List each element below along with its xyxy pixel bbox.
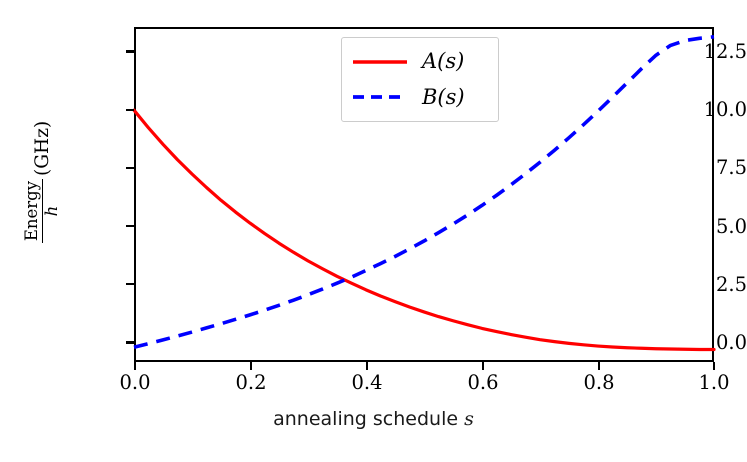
legend-box: A(s) B(s)	[341, 37, 499, 122]
x-tick-mark	[366, 362, 368, 370]
x-tick-mark	[598, 362, 600, 370]
x-axis-label: annealing schedule s	[0, 408, 747, 430]
x-axis-label-text: annealing schedule	[273, 408, 458, 430]
x-tick-label-0: 0.0	[95, 373, 175, 393]
y-tick-label-2: 5.0	[629, 217, 747, 237]
y-tick-mark	[126, 341, 134, 343]
x-axis-label-symbol: s	[464, 408, 474, 430]
y-tick-label-0: 0.0	[629, 333, 747, 353]
legend-item-a: A(s)	[352, 46, 488, 78]
y-tick-mark	[126, 225, 134, 227]
x-tick-label-1: 0.2	[211, 373, 291, 393]
legend-line-a-icon	[352, 55, 408, 69]
y-tick-label-5: 12.5	[629, 42, 747, 62]
legend-line-b-icon	[352, 90, 408, 104]
legend-label-a: A(s)	[422, 51, 464, 72]
y-tick-mark	[126, 50, 134, 52]
y-axis-label-unit: (GHz)	[32, 121, 53, 176]
y-tick-label-1: 2.5	[629, 275, 747, 295]
y-tick-mark	[126, 167, 134, 169]
x-tick-mark	[482, 362, 484, 370]
x-tick-label-4: 0.8	[559, 373, 639, 393]
y-axis-label-denominator: h	[43, 206, 61, 217]
x-tick-label-5: 1.0	[674, 373, 747, 393]
x-tick-mark	[134, 362, 136, 370]
x-tick-label-3: 0.6	[443, 373, 523, 393]
y-axis-label-fraction: Energy h	[24, 179, 61, 243]
legend-item-b: B(s)	[352, 81, 488, 113]
y-axis-label-numerator: Energy	[24, 179, 43, 243]
x-tick-mark	[250, 362, 252, 370]
legend-label-b: B(s)	[422, 87, 465, 108]
figure-canvas: 0.0 2.5 5.0 7.5 10.0 12.5 0.0 0.2 0.4 0.…	[0, 0, 747, 462]
y-tick-mark	[126, 283, 134, 285]
y-tick-mark	[126, 109, 134, 111]
x-tick-label-2: 0.4	[327, 373, 407, 393]
x-tick-mark	[713, 362, 715, 370]
y-tick-label-4: 10.0	[629, 100, 747, 120]
series-line-a	[134, 110, 714, 349]
y-tick-label-3: 7.5	[629, 158, 747, 178]
y-axis-label: Energy h (GHz)	[12, 82, 72, 282]
